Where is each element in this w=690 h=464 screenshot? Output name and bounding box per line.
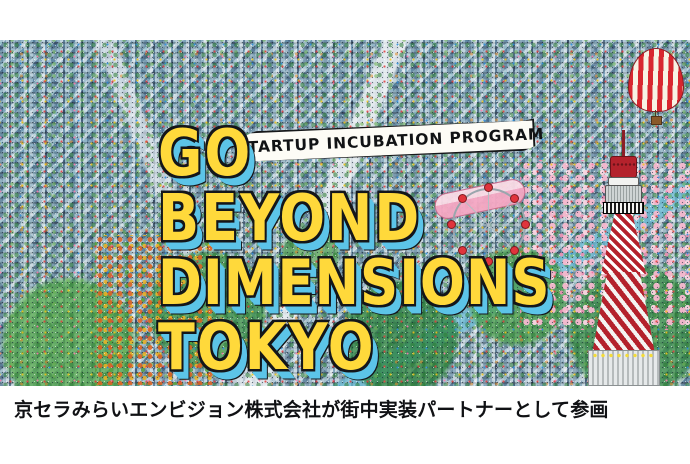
tokyo-tower	[588, 130, 660, 386]
balloon-basket	[651, 116, 662, 125]
hot-air-balloon	[628, 48, 684, 130]
tower-lower-lattice	[592, 272, 655, 354]
tower-upper-lattice	[601, 214, 646, 274]
caption-text: 京セラみらいエンビジョン株式会社が街中実装パートナーとして参画	[14, 395, 609, 422]
caption-bar: 京セラみらいエンビジョン株式会社が街中実装パートナーとして参画	[0, 386, 690, 464]
title-line-1: GO	[158, 122, 588, 186]
page-root: STARTUP INCUBATION PROGRAM GO BEYOND DIM…	[0, 0, 690, 464]
key-visual-illustration: STARTUP INCUBATION PROGRAM GO BEYOND DIM…	[0, 40, 690, 386]
tower-top-capsule	[610, 156, 637, 178]
tower-base-lights	[591, 352, 657, 359]
tower-upper-observatory	[605, 185, 642, 203]
title-line-3: DIMENSIONS	[158, 252, 588, 315]
title-line-2: BEYOND	[158, 187, 588, 251]
tower-capsule-detail	[612, 162, 635, 167]
balloon-envelope	[628, 48, 684, 112]
title-line-4: TOKYO	[158, 316, 588, 380]
tower-lower-observatory	[603, 202, 644, 214]
page-title: GO BEYOND DIMENSIONS TOKYO	[158, 122, 588, 384]
tower-antenna-mast	[622, 130, 625, 158]
